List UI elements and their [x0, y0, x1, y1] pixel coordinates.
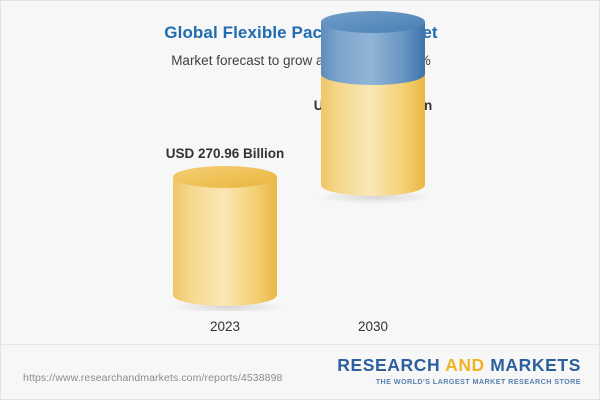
- source-url[interactable]: https://www.researchandmarkets.com/repor…: [23, 372, 282, 384]
- footer-divider: [1, 344, 600, 345]
- brand-name-and: AND: [445, 355, 485, 375]
- brand-name-part2: MARKETS: [485, 355, 581, 375]
- brand-name: RESEARCH AND MARKETS: [337, 356, 581, 374]
- cylinder-2023: [167, 111, 283, 311]
- category-label-2030: 2030: [321, 319, 425, 334]
- category-label-2023: 2023: [173, 319, 277, 334]
- chart-plot-area: USD 270.96 Billion: [1, 1, 600, 346]
- brand-name-part1: RESEARCH: [337, 355, 445, 375]
- brand-tagline: THE WORLD'S LARGEST MARKET RESEARCH STOR…: [337, 377, 581, 386]
- brand-logo: RESEARCH AND MARKETS THE WORLD'S LARGEST…: [337, 356, 581, 386]
- infographic-canvas: Global Flexible Packaging Market Market …: [0, 0, 600, 400]
- cylinder-2030: [315, 11, 431, 211]
